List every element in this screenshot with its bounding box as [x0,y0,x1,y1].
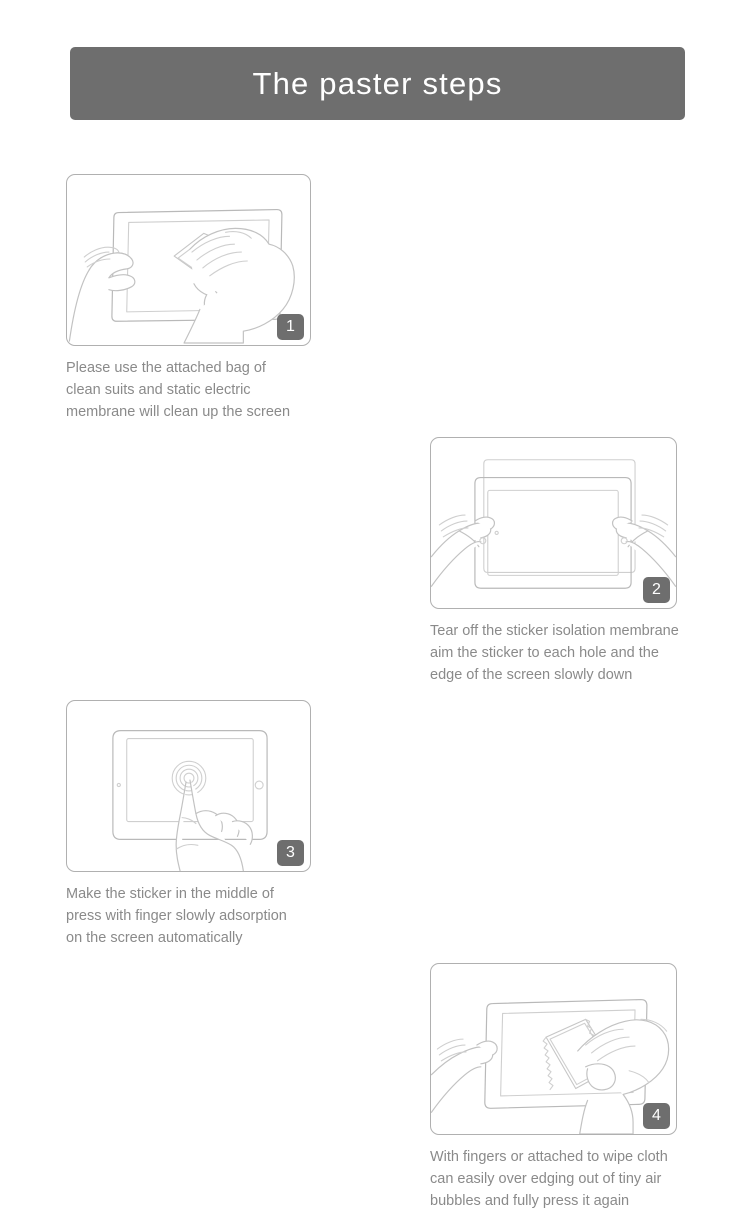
tablet-squeeze-bubbles-cloth-icon [431,964,676,1134]
step-illustration-2: 2 [430,437,677,609]
step-cell-1: 1 Please use the attached bag of clean s… [0,160,375,423]
step-caption-3: Make the sticker in the middle of press … [66,883,366,949]
tablet-peel-film-two-hands-icon [431,438,676,608]
step-caption-2: Tear off the sticker isolation membrane … [430,620,730,686]
step-illustration-1: 1 [66,174,311,346]
step-caption-1: Please use the attached bag of clean sui… [66,357,366,423]
page-title: The paster steps [252,68,502,99]
step-number-badge: 2 [643,577,670,603]
steps-grid: 1 Please use the attached bag of clean s… [0,160,750,1212]
tablet-press-center-finger-icon [67,701,310,871]
step-cell-2: 2 Tear off the sticker isolation membran… [0,423,430,686]
step-number-badge: 4 [643,1103,670,1129]
step-caption-4: With fingers or attached to wipe cloth c… [430,1146,730,1212]
title-banner: The paster steps [70,47,685,120]
step-cell-4: 4 With fingers or attached to wipe cloth… [0,949,430,1212]
step-cell-3: 3 Make the sticker in the middle of pres… [0,686,375,949]
tablet-wipe-with-cloth-icon [67,175,310,345]
step-number-badge: 1 [277,314,304,340]
step-illustration-4: 4 [430,963,677,1135]
step-number-badge: 3 [277,840,304,866]
step-illustration-3: 3 [66,700,311,872]
